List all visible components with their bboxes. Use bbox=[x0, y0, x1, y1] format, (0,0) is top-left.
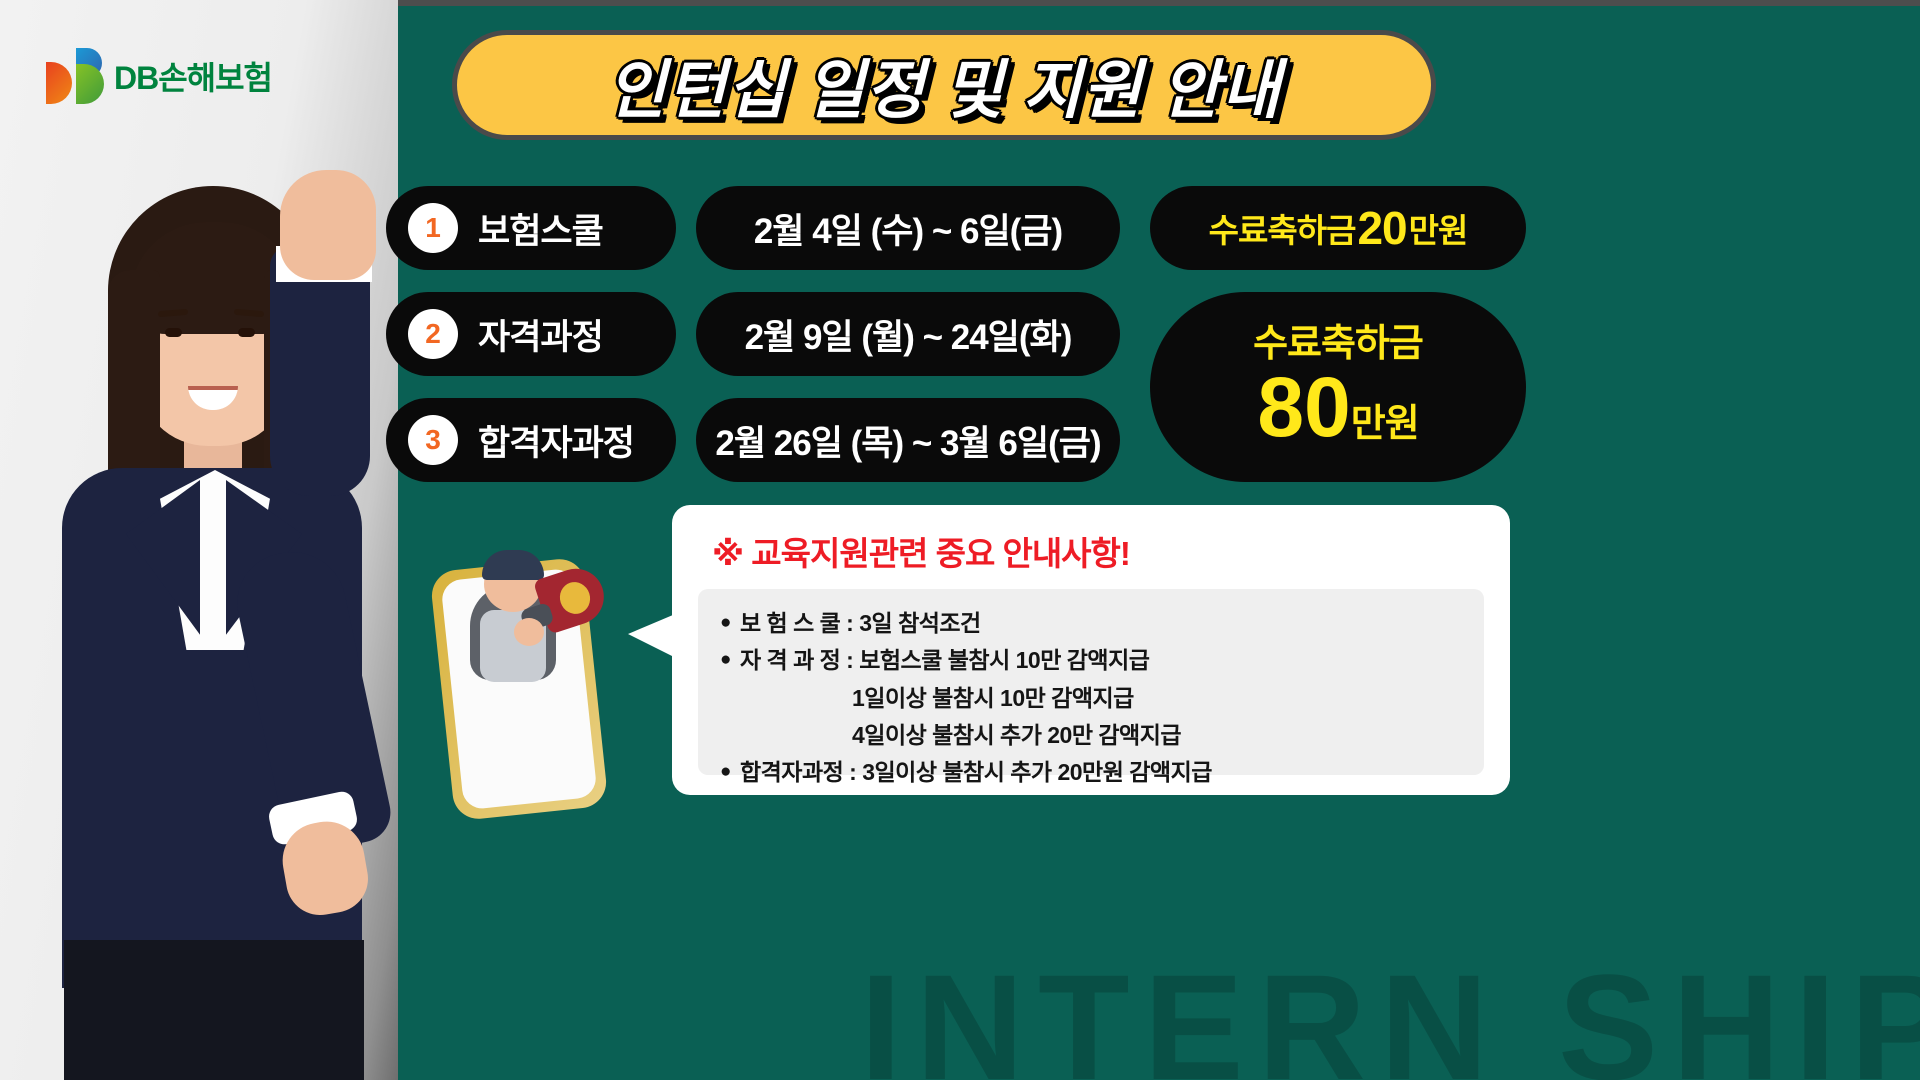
reward-unit: 만원 bbox=[1409, 204, 1468, 252]
bullet-icon: ● bbox=[720, 754, 731, 789]
course-date: 2월 4일 (수) ~ 6일(금) bbox=[754, 203, 1062, 254]
notice-line-text: 4일이상 불참시 추가 20만 감액지급 bbox=[852, 717, 1181, 754]
notice-box: ※ 교육지원관련 중요 안내사항! ● 보 험 스 쿨 : 3일 참석조건 ● … bbox=[672, 505, 1510, 795]
reward-badge-first: 수료축하금 20 만원 bbox=[1150, 186, 1526, 270]
list-item: 1일이상 불참시 10만 감액지급 bbox=[720, 680, 1464, 717]
notice-line-text: 1일이상 불참시 10만 감액지급 bbox=[852, 680, 1134, 717]
notice-line-text: 보 험 스 쿨 : 3일 참석조건 bbox=[740, 605, 981, 642]
notice-title: ※ 교육지원관련 중요 안내사항! bbox=[712, 527, 1484, 575]
course-date-pill: 2월 26일 (목) ~ 3월 6일(금) bbox=[696, 398, 1120, 482]
course-name-pill: 1 보험스쿨 bbox=[386, 186, 676, 270]
reward-badge-merged: 수료축하금 80 만원 bbox=[1150, 292, 1526, 482]
notice-line-text: 합격자과정 : 3일이상 불참시 추가 20만원 감액지급 bbox=[740, 754, 1212, 791]
reward-unit: 만원 bbox=[1351, 392, 1419, 447]
course-date: 2월 9일 (월) ~ 24일(화) bbox=[745, 309, 1072, 360]
course-name: 합격자과정 bbox=[478, 415, 634, 466]
brand-logo: DB손해보험 bbox=[46, 48, 272, 104]
left-panel: DB손해보험 bbox=[0, 0, 398, 1080]
course-name: 보험스쿨 bbox=[478, 203, 603, 254]
page-title: 인턴십 일정 및 지원 안내 bbox=[607, 39, 1281, 131]
brand-logo-text: DB손해보험 bbox=[114, 53, 272, 99]
title-banner: 인턴십 일정 및 지원 안내 bbox=[452, 30, 1436, 140]
reward-label: 수료축하금 bbox=[1209, 204, 1356, 252]
step-number-badge: 1 bbox=[408, 203, 458, 253]
bullet-icon: ● bbox=[720, 605, 731, 640]
reward-amount: 80 bbox=[1257, 365, 1350, 449]
course-name-pill: 2 자격과정 bbox=[386, 292, 676, 376]
businesswoman-photo bbox=[8, 150, 398, 1080]
step-number-badge: 2 bbox=[408, 309, 458, 359]
list-item: ● 보 험 스 쿨 : 3일 참석조건 bbox=[720, 605, 1464, 642]
db-logo-mark-icon bbox=[46, 48, 102, 104]
list-item: ● 합격자과정 : 3일이상 불참시 추가 20만원 감액지급 bbox=[720, 754, 1464, 791]
notice-body: ● 보 험 스 쿨 : 3일 참석조건 ● 자 격 과 정 : 보험스쿨 불참시… bbox=[698, 589, 1484, 775]
course-name-pill: 3 합격자과정 bbox=[386, 398, 676, 482]
person-with-megaphone-icon bbox=[418, 548, 638, 816]
course-date-pill: 2월 4일 (수) ~ 6일(금) bbox=[696, 186, 1120, 270]
poster-root: DB INSURANCE INTERN SHIP DB손해보험 bbox=[0, 0, 1920, 1080]
course-name: 자격과정 bbox=[478, 309, 603, 360]
reward-label: 수료축하금 bbox=[1253, 325, 1423, 365]
course-date-pill: 2월 9일 (월) ~ 24일(화) bbox=[696, 292, 1120, 376]
course-date: 2월 26일 (목) ~ 3월 6일(금) bbox=[715, 415, 1100, 466]
list-item: ● 자 격 과 정 : 보험스쿨 불참시 10만 감액지급 bbox=[720, 642, 1464, 679]
step-number-badge: 3 bbox=[408, 415, 458, 465]
notice-line-text: 자 격 과 정 : 보험스쿨 불참시 10만 감액지급 bbox=[740, 642, 1149, 679]
reward-amount: 20 bbox=[1357, 201, 1406, 255]
bullet-icon: ● bbox=[720, 642, 731, 677]
list-item: 4일이상 불참시 추가 20만 감액지급 bbox=[720, 717, 1464, 754]
